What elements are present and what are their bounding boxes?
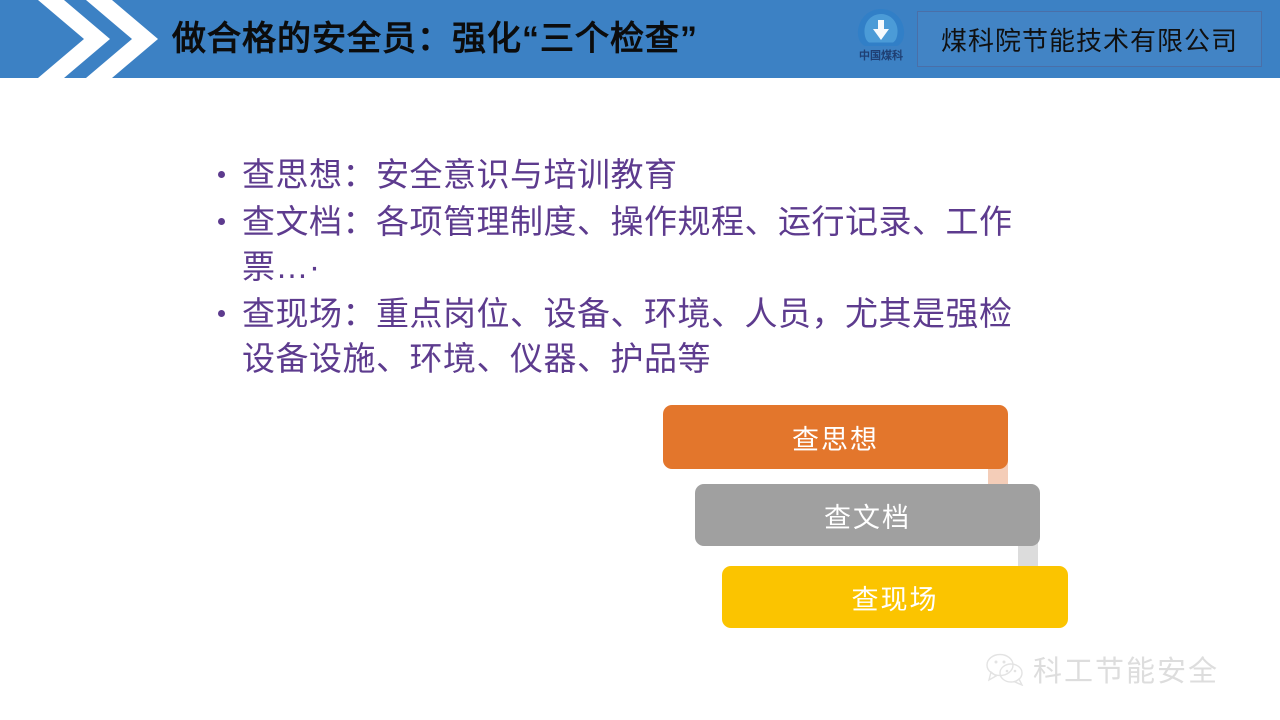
bullet-dot-icon [218, 310, 225, 317]
list-item: 查文档：各项管理制度、操作规程、运行记录、工作票…· [216, 199, 1036, 289]
slide-canvas: 做合格的安全员：强化“三个检查” 中国煤科 煤科院节能技术有限公司 查思想：安全… [0, 0, 1280, 720]
watermark-label: 科工节能安全 [1033, 648, 1219, 690]
slide-header: 做合格的安全员：强化“三个检查” 中国煤科 煤科院节能技术有限公司 [0, 0, 1280, 78]
company-logo: 中国煤科 [849, 7, 913, 73]
diagram-step-3: 查现场 [722, 566, 1068, 628]
company-name-box: 煤科院节能技术有限公司 [917, 11, 1262, 67]
diagram-step-2: 查文档 [695, 484, 1040, 546]
list-item-label: 查现场：重点岗位、设备、环境、人员，尤其是强检设备设施、环境、仪器、护品等 [242, 295, 1013, 377]
bullet-dot-icon [218, 171, 225, 178]
company-logo-caption: 中国煤科 [849, 49, 913, 63]
diagram-step-1-label: 查思想 [792, 418, 879, 457]
diagram-step-3-label: 查现场 [852, 578, 939, 617]
diagram-step-1: 查思想 [663, 405, 1008, 469]
bullet-dot-icon [218, 218, 225, 225]
wechat-icon [985, 652, 1025, 686]
china-coal-technology-emblem-icon [855, 7, 907, 49]
bullet-list: 查思想：安全意识与培训教育 查文档：各项管理制度、操作规程、运行记录、工作票…·… [216, 152, 1036, 383]
list-item-label: 查思想：安全意识与培训教育 [242, 156, 678, 193]
double-chevron-right-icon [38, 0, 178, 78]
company-name: 煤科院节能技术有限公司 [941, 21, 1238, 58]
page-title: 做合格的安全员：强化“三个检查” [172, 13, 832, 69]
diagram-step-2-label: 查文档 [824, 496, 911, 535]
stair-step-diagram: 查思想 查文档 查现场 [655, 398, 1080, 638]
watermark: 科工节能安全 [985, 645, 1255, 693]
list-item: 查现场：重点岗位、设备、环境、人员，尤其是强检设备设施、环境、仪器、护品等 [216, 291, 1036, 381]
list-item: 查思想：安全意识与培训教育 [216, 152, 1036, 197]
list-item-label: 查文档：各项管理制度、操作规程、运行记录、工作票…· [242, 203, 1013, 285]
